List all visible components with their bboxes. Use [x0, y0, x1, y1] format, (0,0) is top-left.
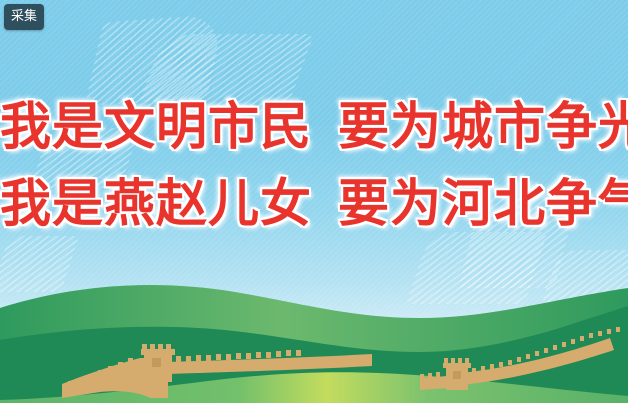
capture-button[interactable]: 采集 [4, 4, 44, 30]
headline-line-2: 我是燕赵儿女要为河北争气 [0, 179, 628, 230]
banner-image: 我是文明市民要为城市争光 我是燕赵儿女要为河北争气 采集 [0, 0, 628, 403]
headline-line-2-right: 要为河北争气 [338, 175, 628, 234]
headline-line-1-left: 我是文明市民 [0, 98, 312, 157]
headline-line-1-right: 要为城市争光 [338, 98, 628, 157]
headline-line-1: 我是文明市民要为城市争光 [0, 102, 628, 153]
headline-line-2-left: 我是燕赵儿女 [0, 175, 312, 234]
